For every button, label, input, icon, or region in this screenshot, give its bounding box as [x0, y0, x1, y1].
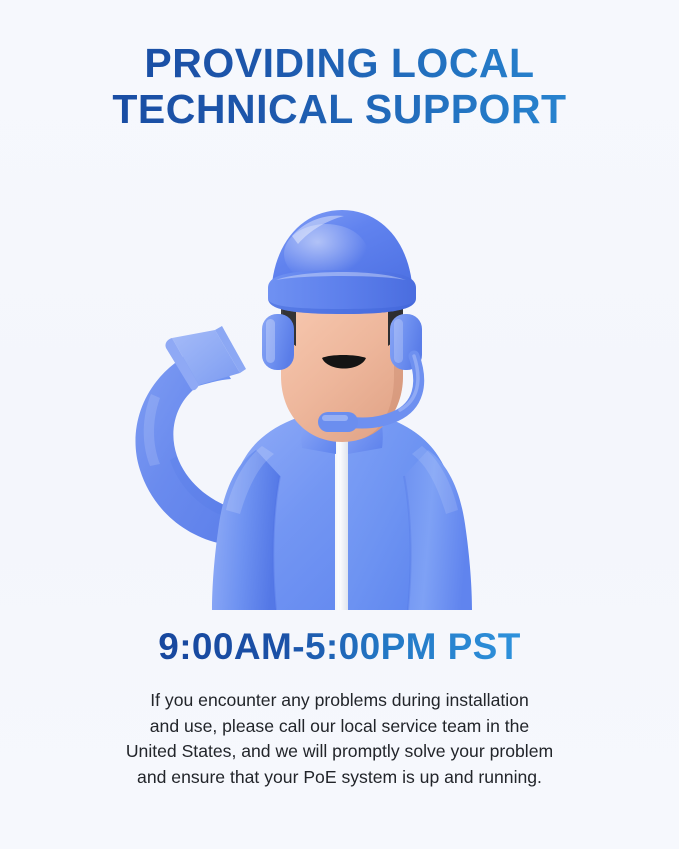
support-description: If you encounter any problems during ins…: [44, 688, 635, 790]
description-line-2: and use, please call our local service t…: [44, 714, 635, 740]
helmet: [268, 210, 416, 314]
support-hours-text: 9:00AM-5:00PM PST: [158, 626, 521, 668]
support-hours: 9:00AM-5:00PM PST: [0, 626, 679, 668]
headline-line-2: TECHNICAL SUPPORT: [0, 88, 679, 131]
support-poster: PROVIDING LOCAL TECHNICAL SUPPORT: [0, 0, 679, 849]
headline-line-1: PROVIDING LOCAL: [0, 42, 679, 85]
support-agent-illustration: [0, 158, 679, 610]
description-line-4: and ensure that your PoE system is up an…: [44, 765, 635, 791]
support-agent-artwork: [0, 158, 679, 610]
description-line-1: If you encounter any problems during ins…: [44, 688, 635, 714]
description-line-3: United States, and we will promptly solv…: [44, 739, 635, 765]
head: [262, 210, 422, 442]
page-title: PROVIDING LOCAL TECHNICAL SUPPORT: [0, 42, 679, 132]
support-agent-figure: [212, 210, 472, 610]
